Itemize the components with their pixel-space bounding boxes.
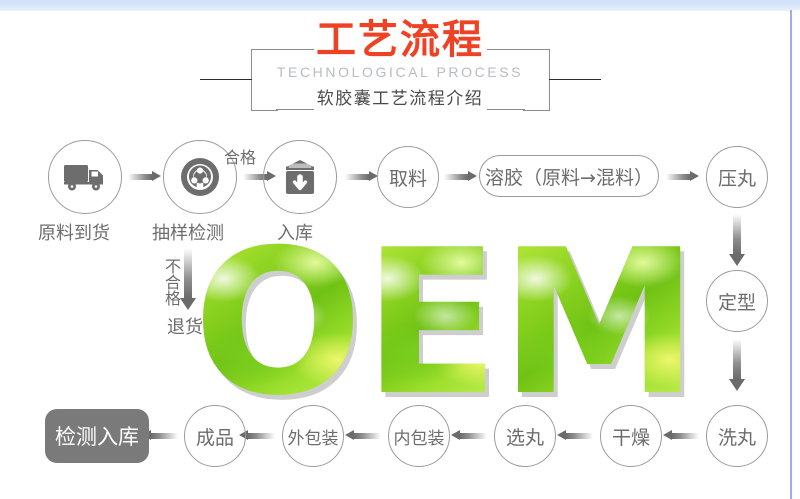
node-dry[interactable]: 干燥: [600, 405, 662, 467]
node-label-dry: 干燥: [612, 423, 650, 450]
arrow-dry-to-select: [557, 430, 593, 441]
node-label-press-pill: 压丸: [718, 164, 756, 191]
label-return: 退货: [167, 313, 203, 339]
arrow-take-to-gel: [444, 171, 477, 182]
node-select-pill[interactable]: 选丸: [494, 405, 556, 467]
arrow-raw-to-sample: [128, 171, 161, 182]
arrow-shape-to-wash: [729, 339, 745, 391]
arrow-press-to-shape: [729, 214, 745, 266]
node-material-take[interactable]: 取料: [377, 146, 439, 208]
node-label-shape-set: 定型: [718, 288, 756, 315]
page-title-english: TECHNOLOGICAL PROCESS: [248, 62, 552, 82]
title-rule-left-outer: [200, 79, 252, 80]
node-label-finished: 成品: [196, 423, 234, 450]
watermark-letter-o: O: [193, 243, 363, 405]
node-outer-pack[interactable]: 外包装: [282, 405, 344, 467]
page-subtitle: 软胶囊工艺流程介绍: [248, 86, 552, 112]
node-label-wash-pill: 洗丸: [718, 423, 756, 450]
node-label-gel-dissolve: 溶胶（原料→混料）: [485, 163, 653, 190]
arrow-wash-to-dry: [663, 430, 699, 441]
node-label-outer-pack: 外包装: [288, 424, 339, 449]
watermark-letter-m: M: [500, 243, 699, 405]
arrow-gel-to-press: [666, 171, 699, 182]
top-color-band: [0, 0, 800, 11]
node-gel-dissolve[interactable]: 溶胶（原料→混料）: [479, 155, 659, 197]
arrow-inner-to-outer: [345, 430, 381, 441]
node-label-select-pill: 选丸: [506, 423, 544, 450]
arrow-warehouse-to-take: [345, 171, 378, 182]
caption-warehouse-in: 入库: [277, 219, 313, 245]
node-raw-arrival[interactable]: [48, 140, 122, 214]
node-wash-pill[interactable]: 洗丸: [706, 405, 768, 467]
page-title: 工艺流程: [248, 18, 552, 62]
node-label-material-take: 取料: [389, 164, 427, 191]
title-rule-right-outer: [549, 79, 601, 80]
oem-watermark: O E M: [193, 240, 683, 405]
node-label-final-check-in: 检测入库: [55, 421, 139, 451]
node-finished[interactable]: 成品: [184, 405, 246, 467]
watermark-letter-e: E: [363, 243, 500, 405]
label-pass: 合格: [224, 144, 256, 168]
truck-icon: [63, 162, 107, 192]
caption-sample-check: 抽样检测: [152, 219, 224, 245]
node-warehouse-in[interactable]: [263, 140, 337, 214]
caption-raw-arrival: 原料到货: [38, 219, 110, 245]
node-shape-set[interactable]: 定型: [706, 270, 768, 332]
node-inner-pack[interactable]: 内包装: [388, 405, 450, 467]
flowchart-page: 工艺流程 TECHNOLOGICAL PROCESS 软胶囊工艺流程介绍 O E…: [0, 0, 800, 499]
node-final-check-in[interactable]: 检测入库: [45, 409, 149, 463]
header-block: 工艺流程 TECHNOLOGICAL PROCESS 软胶囊工艺流程介绍: [0, 18, 800, 118]
node-label-inner-pack: 内包装: [394, 424, 445, 449]
inbox-arrow-down-icon: [280, 158, 320, 196]
arrow-fail-to-return: [180, 248, 196, 310]
node-press-pill[interactable]: 压丸: [706, 146, 768, 208]
arrow-select-to-inner: [451, 430, 487, 441]
sampling-icon: [178, 155, 222, 199]
